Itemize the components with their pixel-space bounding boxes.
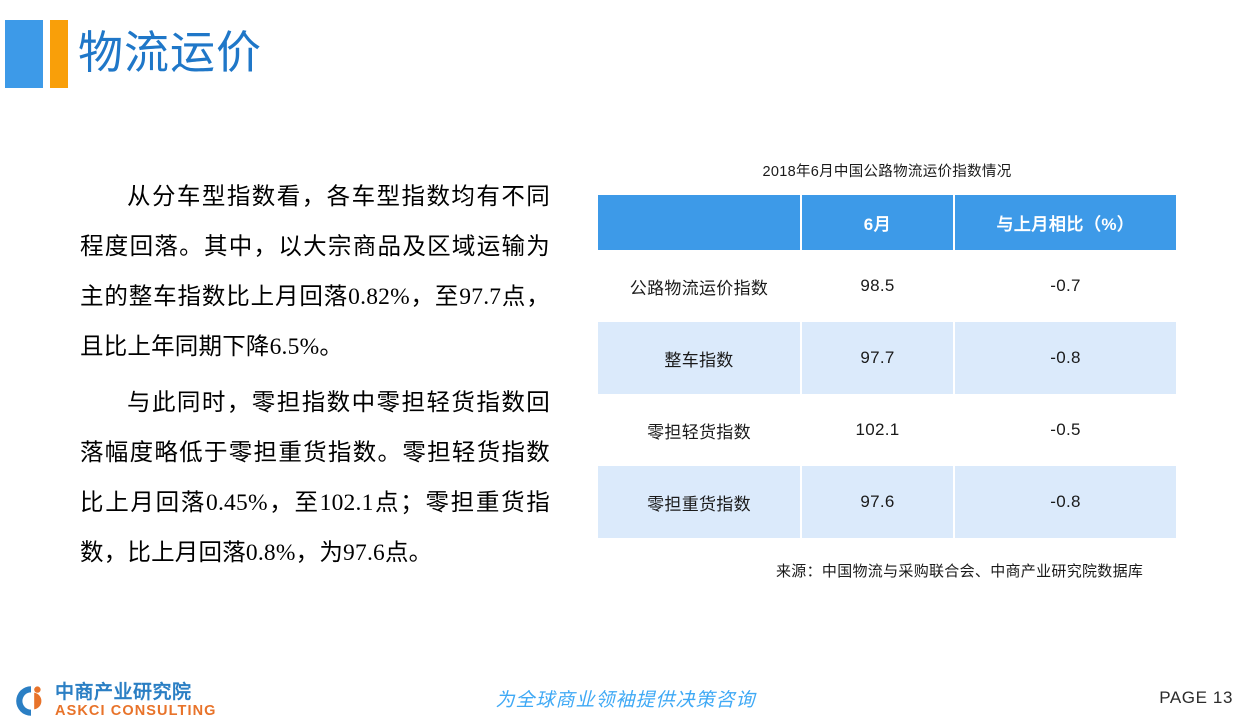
table-header-cell-label — [598, 195, 802, 250]
row-value-mom: -0.8 — [955, 322, 1176, 394]
table-row: 零担重货指数 97.6 -0.8 — [598, 466, 1176, 538]
freight-index-table: 6月 与上月相比（%） 公路物流运价指数 98.5 -0.7 整车指数 97.7… — [598, 195, 1176, 538]
row-value-june: 97.6 — [802, 466, 955, 538]
row-label: 零担轻货指数 — [598, 394, 802, 466]
slide-header: 物流运价 — [0, 0, 1251, 110]
header-blue-block — [5, 20, 43, 88]
row-value-june: 98.5 — [802, 250, 955, 322]
page-title: 物流运价 — [78, 22, 262, 84]
row-value-mom: -0.7 — [955, 250, 1176, 322]
paragraph-2: 与此同时，零担指数中零担轻货指数回落幅度略低于零担重货指数。零担轻货指数比上月回… — [80, 378, 550, 578]
footer-tagline: 为全球商业领袖提供决策咨询 — [0, 685, 1251, 712]
table-header: 6月 与上月相比（%） — [598, 195, 1176, 250]
header-orange-bar — [50, 20, 68, 88]
table-header-row: 6月 与上月相比（%） — [598, 195, 1176, 250]
body-text-column: 从分车型指数看，各车型指数均有不同程度回落。其中，以大宗商品及区域运输为主的整车… — [80, 172, 550, 584]
table-caption: 2018年6月中国公路物流运价指数情况 — [598, 160, 1176, 181]
table-body: 公路物流运价指数 98.5 -0.7 整车指数 97.7 -0.8 零担轻货指数… — [598, 250, 1176, 538]
table-row: 整车指数 97.7 -0.8 — [598, 322, 1176, 394]
table-row: 零担轻货指数 102.1 -0.5 — [598, 394, 1176, 466]
row-label: 整车指数 — [598, 322, 802, 394]
table-header-cell-mom: 与上月相比（%） — [955, 195, 1176, 250]
table-row: 公路物流运价指数 98.5 -0.7 — [598, 250, 1176, 322]
paragraph-1: 从分车型指数看，各车型指数均有不同程度回落。其中，以大宗商品及区域运输为主的整车… — [80, 172, 550, 372]
page-number: PAGE 13 — [1159, 688, 1233, 708]
row-label: 公路物流运价指数 — [598, 250, 802, 322]
table-section: 2018年6月中国公路物流运价指数情况 6月 与上月相比（%） 公路物流运价指数… — [598, 160, 1176, 581]
row-value-june: 102.1 — [802, 394, 955, 466]
table-header-cell-june: 6月 — [802, 195, 955, 250]
row-value-mom: -0.5 — [955, 394, 1176, 466]
row-label: 零担重货指数 — [598, 466, 802, 538]
row-value-june: 97.7 — [802, 322, 955, 394]
source-note: 来源：中国物流与采购联合会、中商产业研究院数据库 — [598, 560, 1176, 581]
slide-footer: 中商产业研究院 ASKCI CONSULTING 为全球商业领袖提供决策咨询 P… — [0, 656, 1251, 726]
row-value-mom: -0.8 — [955, 466, 1176, 538]
